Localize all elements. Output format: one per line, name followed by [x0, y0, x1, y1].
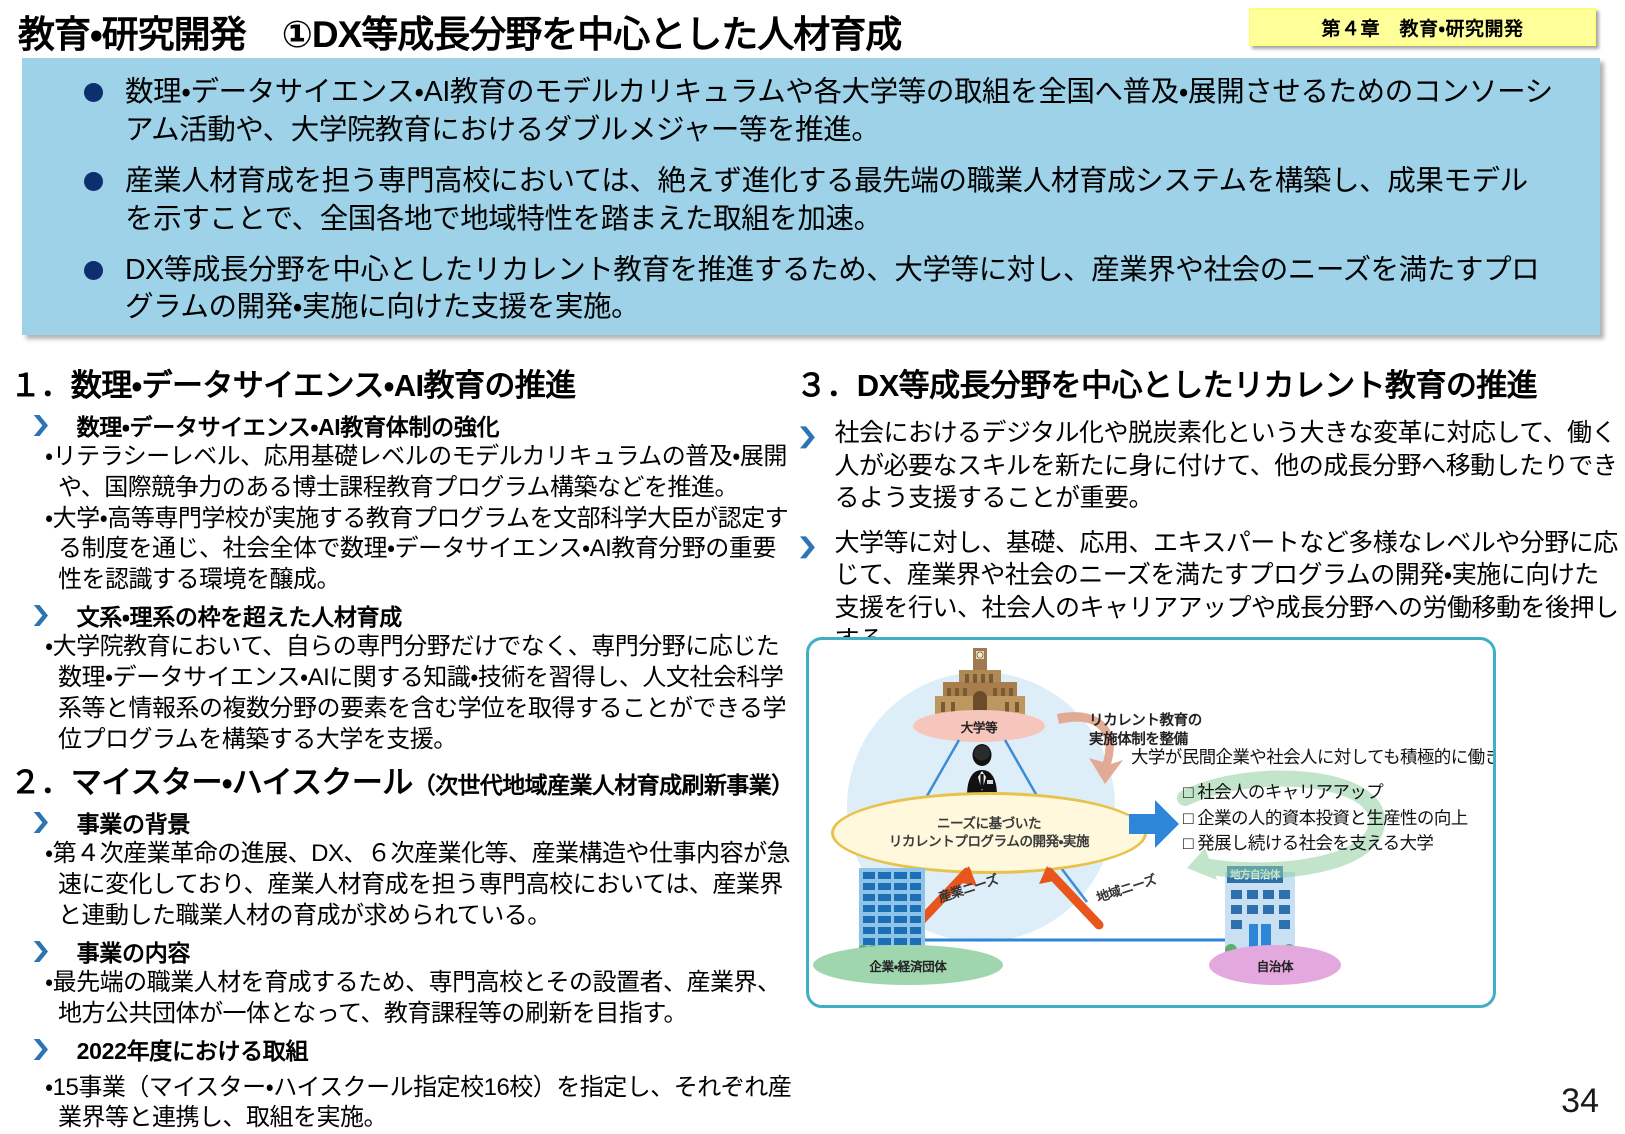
subsection-label: 事業の内容	[77, 934, 191, 968]
summary-text: 数理・データサイエンス・AI教育のモデルカリキュラムや各大学等の取組を全国へ普及…	[125, 74, 1555, 150]
summary-text: DX等成長分野を中心としたリカレント教育を推進するため、大学等に対し、産業界や社…	[125, 252, 1555, 328]
page-title: 教育・研究開発 ①DX等成長分野を中心とした人材育成	[18, 4, 901, 58]
diagram-right-heading: 大学が民間企業や社会人に対しても積極的に働きかけ	[1131, 744, 1496, 769]
list-item: 数理・データサイエンス・AI教育のモデルカリキュラムや各大学等の取組を全国へ普及…	[44, 74, 1578, 150]
section-2-heading: ２．マイスター・ハイスクール（次世代地域産業人材育成刷新事業）	[10, 757, 800, 802]
section-2-heading-main: ２．マイスター・ハイスクール	[10, 765, 413, 800]
chapter-tag-label: 第４章 教育・研究開発	[1322, 14, 1524, 41]
chevron-right-icon: ❯	[796, 535, 819, 557]
body-paragraph: ・リテラシーレベル、応用基礎レベルのモデルカリキュラムの普及・展開や、国際競争力…	[58, 442, 798, 504]
bullet-icon	[84, 261, 103, 280]
recurrent-education-diagram: 大学等 リカレント教育の 実施体制を整備 ニーズに基づいた リカレントプログラム…	[806, 637, 1496, 1008]
subsection-2-2: ❯ 事業の内容	[10, 934, 800, 968]
subsection-label: 文系・理系の枠を超えた人材育成	[77, 598, 402, 632]
page-number: 34	[1561, 1082, 1599, 1121]
list-item: □ 社会人のキャリアアップ	[1183, 780, 1468, 806]
summary-text: 産業人材育成を担う専門高校においては、絶えず進化する最先端の職業人材育成システム…	[125, 163, 1555, 239]
body-paragraph: 社会におけるデジタル化や脱炭素化という大きな変革に対応して、働く人が必要なスキル…	[834, 417, 1620, 515]
subsection-2-3: ❯ 2022年度における取組	[10, 1032, 800, 1066]
diagram-right-list: □ 社会人のキャリアアップ □ 企業の人的資本投資と生産性の向上 □ 発展し続け…	[1183, 780, 1468, 857]
chevron-right-icon: ❯	[30, 1038, 52, 1059]
chevron-right-icon: ❯	[796, 425, 819, 447]
chapter-tag: 第４章 教育・研究開発	[1249, 8, 1596, 46]
subsection-label: 数理・データサイエンス・AI教育体制の強化	[77, 408, 500, 442]
company-building-icon	[853, 862, 931, 958]
list-item: 産業人材育成を担う専門高校においては、絶えず進化する最先端の職業人材育成システム…	[44, 163, 1578, 239]
blue-arrow-icon	[1127, 798, 1181, 850]
right-column: ３．DX等成長分野を中心としたリカレント教育の推進 ❯ 社会におけるデジタル化や…	[790, 360, 1620, 657]
subsection-label: 事業の背景	[77, 805, 191, 839]
chevron-right-icon: ❯	[30, 414, 52, 435]
summary-box: 数理・データサイエンス・AI教育のモデルカリキュラムや各大学等の取組を全国へ普及…	[22, 58, 1600, 335]
chevron-right-icon: ❯	[30, 604, 52, 625]
list-item: □ 企業の人的資本投資と生産性の向上	[1183, 806, 1468, 832]
subsection-2-1: ❯ 事業の背景	[10, 805, 800, 839]
section-1-heading: １．数理・データサイエンス・AI教育の推進	[10, 360, 800, 405]
body-paragraph: ・大学・高等専門学校が実施する教育プログラムを文部科学大臣が認定する制度を通じ、…	[58, 504, 798, 596]
chevron-right-icon: ❯	[30, 811, 52, 832]
body-paragraph: ・大学院教育において、自らの専門分野だけでなく、専門分野に応じた数理・データサイ…	[58, 632, 798, 755]
section-3-heading: ３．DX等成長分野を中心としたリカレント教育の推進	[796, 360, 1620, 405]
corporations-label: 企業・経済団体	[813, 945, 1003, 985]
list-item: □ 発展し続ける社会を支える大学	[1183, 831, 1468, 857]
body-paragraph: ・第４次産業革命の進展、DX、６次産業化等、産業構造や仕事内容が急速に変化してお…	[58, 839, 798, 931]
subsection-1-2: ❯ 文系・理系の枠を超えた人材育成	[10, 598, 800, 632]
bullet-icon	[84, 172, 103, 191]
section-2-heading-sub: （次世代地域産業人材育成刷新事業）	[413, 772, 794, 798]
subsection-label: 2022年度における取組	[77, 1032, 309, 1066]
section-3-item: ❯ 社会におけるデジタル化や脱炭素化という大きな変革に対応して、働く人が必要なス…	[790, 417, 1620, 515]
left-column: １．数理・データサイエンス・AI教育の推進 ❯ 数理・データサイエンス・AI教育…	[10, 360, 800, 1134]
list-item: DX等成長分野を中心としたリカレント教育を推進するため、大学等に対し、産業界や社…	[44, 252, 1578, 328]
municipality-label: 自治体	[1209, 945, 1341, 985]
bullet-icon	[84, 83, 103, 102]
body-paragraph: ・最先端の職業人材を育成するため、専門高校とその設置者、産業界、地方公共団体が一…	[58, 968, 798, 1030]
chevron-right-icon: ❯	[30, 940, 52, 961]
subsection-1-1: ❯ 数理・データサイエンス・AI教育体制の強化	[10, 408, 800, 442]
